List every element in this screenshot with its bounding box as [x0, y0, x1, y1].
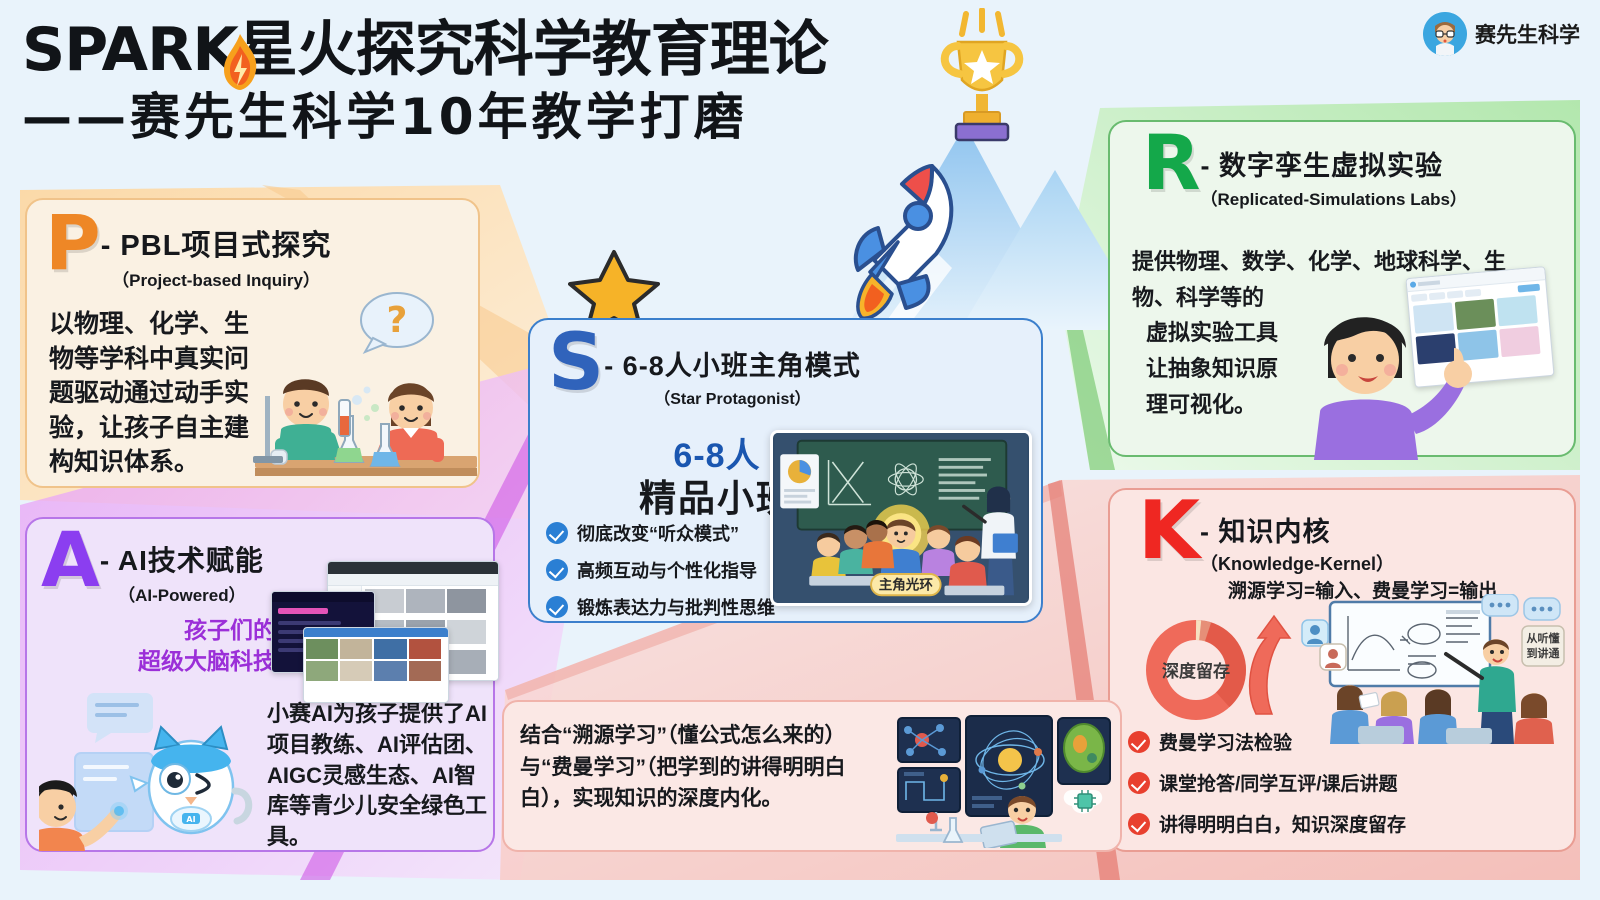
card-s-bullet-2: 高频互动与个性化指导: [546, 557, 775, 583]
deep-retention-donut-chart: 深度留存: [1132, 610, 1312, 730]
brand-logo: 赛先生科学: [1423, 12, 1580, 56]
card-s-title-cn: - 6-8人小班主角模式: [604, 344, 861, 383]
check-circle-icon: [546, 522, 568, 544]
card-s-letter: S: [548, 328, 604, 400]
card-pbl[interactable]: P - PBL项目式探究 （Project-based Inquiry） 以物理…: [25, 198, 480, 488]
card-pbl-letter: P: [45, 208, 101, 278]
card-r-title-cn: - 数字孪生虚拟实验: [1201, 144, 1467, 183]
card-bottom-summary[interactable]: 结合“溯源学习”（懂公式怎么来的）与“费曼学习”（把学到的讲得明明白白），实现知…: [502, 700, 1122, 852]
card-s-bullet-2-label: 高频互动与个性化指导: [577, 557, 757, 583]
check-circle-icon: [1128, 772, 1150, 794]
card-s-bullet-3: 锻炼表达力与批判性思维: [546, 594, 775, 620]
card-replicated-labs[interactable]: R - 数字孪生虚拟实验 （Replicated-Simulations Lab…: [1108, 120, 1576, 457]
card-k-bullet-list: 费曼学习法检验 课堂抢答/同学互评/课后讲题 讲得明明白白，知识深度留存: [1128, 728, 1406, 837]
check-circle-icon: [1128, 731, 1150, 753]
card-r-title-en: （Replicated-Simulations Labs）: [1201, 185, 1467, 210]
check-circle-icon: [546, 559, 568, 581]
title-line-2: ——赛先生科学10年教学打磨: [22, 87, 828, 147]
card-k-bullet-3-label: 讲得明明白白，知识深度留存: [1159, 810, 1406, 837]
two-kids-lab-experiment-illustration: ?: [245, 290, 483, 488]
trophy-icon: [922, 8, 1042, 158]
flame-icon: [218, 32, 262, 92]
title-line-1-text: SPARK星火探究科学教育理论: [22, 15, 828, 85]
card-pbl-body: 以物理、化学、生物等学科中真实问题驱动通过动手实验，让孩子自主建构知识体系。: [49, 307, 259, 480]
card-s-bullet-1-label: 彻底改变“听众模式”: [577, 520, 739, 546]
card-k-title-en: （Knowledge-Kernel）: [1200, 550, 1394, 576]
card-k-bullet-3: 讲得明明白白，知识深度留存: [1128, 810, 1406, 837]
rocket-icon: [840, 150, 985, 330]
student-teaching-classroom-illustration: 从听懂 到讲通: [1296, 594, 1568, 744]
logo-text: 赛先生科学: [1475, 19, 1580, 49]
card-ai-title-cn: - AI技术赋能: [100, 539, 264, 579]
card-bottom-summary-body: 结合“溯源学习”（懂公式怎么来的）与“费曼学习”（把学到的讲得明明白白），实现知…: [520, 720, 892, 815]
donut-center-label: 深度留存: [1162, 661, 1230, 682]
card-ai-body: 小赛AI为孩子提供了AI项目教练、AI评估团、AIGC灵感生态、AI智库等青少儿…: [267, 699, 489, 853]
card-k-title-cn: - 知识内核: [1200, 510, 1394, 549]
card-knowledge-kernel[interactable]: K - 知识内核 （Knowledge-Kernel） 溯源学习=输入、费曼学习…: [1108, 488, 1576, 852]
card-pbl-header: P - PBL项目式探究 （Project-based Inquiry）: [27, 200, 478, 291]
card-s-bullet-list: 彻底改变“听众模式” 高频互动与个性化指导 锻炼表达力与批判性思维: [546, 520, 775, 620]
card-s-title-en: （Star Protagonist）: [604, 385, 861, 409]
card-s-bullet-1: 彻底改变“听众模式”: [546, 520, 775, 546]
ai-gallery-screenshot: [303, 627, 449, 703]
owl-robot-and-boy-illustration: AI: [39, 687, 269, 851]
check-circle-icon: [546, 596, 568, 618]
svg-text:从听懂: 从听懂: [1527, 631, 1560, 645]
scientist-avatar-icon: [1423, 12, 1467, 56]
infographic-canvas: SPARK星火探究科学教育理论 ——赛先生科学10年教学打磨 赛先生科学: [0, 0, 1600, 900]
card-k-bullet-2-label: 课堂抢答/同学互评/课后讲题: [1159, 769, 1398, 796]
card-k-letter: K: [1138, 494, 1200, 568]
card-star-protagonist[interactable]: S - 6-8人小班主角模式 （Star Protagonist） 6-8人 精…: [528, 318, 1043, 623]
card-pbl-title-en: （Project-based Inquiry）: [101, 266, 332, 291]
card-ai-letter: A: [41, 525, 100, 595]
title-line-1: SPARK星火探究科学教育理论: [22, 18, 828, 83]
card-pbl-title-cn: - PBL项目式探究: [101, 222, 332, 264]
check-circle-icon: [1128, 813, 1150, 835]
card-r-letter: R: [1142, 128, 1201, 198]
card-ai[interactable]: A - AI技术赋能 （AI-Powered） 孩子们的 超级大脑科技外挂 小赛…: [25, 517, 495, 852]
boy-pointing-at-virtual-lab-illustration: [1306, 282, 1476, 460]
card-k-bullet-1: 费曼学习法检验: [1128, 728, 1406, 755]
card-k-header: K - 知识内核 （Knowledge-Kernel）: [1110, 490, 1574, 576]
svg-text:到讲通: 到讲通: [1527, 646, 1560, 660]
card-k-bullet-1-label: 费曼学习法检验: [1159, 728, 1292, 755]
card-r-header: R - 数字孪生虚拟实验 （Replicated-Simulations Lab…: [1110, 122, 1574, 210]
svg-text:?: ?: [387, 300, 408, 341]
svg-text:AI: AI: [186, 815, 195, 824]
card-s-header: S - 6-8人小班主角模式 （Star Protagonist）: [530, 320, 1041, 409]
science-monitors-boy-illustration: [896, 712, 1118, 848]
card-s-bullet-3-label: 锻炼表达力与批判性思维: [577, 594, 775, 620]
card-k-bullet-2: 课堂抢答/同学互评/课后讲题: [1128, 769, 1406, 796]
svg-text:主角光环: 主角光环: [879, 576, 934, 593]
page-title: SPARK星火探究科学教育理论 ——赛先生科学10年教学打磨: [22, 18, 828, 147]
card-ai-title-en: （AI-Powered）: [100, 581, 264, 606]
classroom-star-protagonist-illustration: 主角光环: [770, 430, 1032, 606]
